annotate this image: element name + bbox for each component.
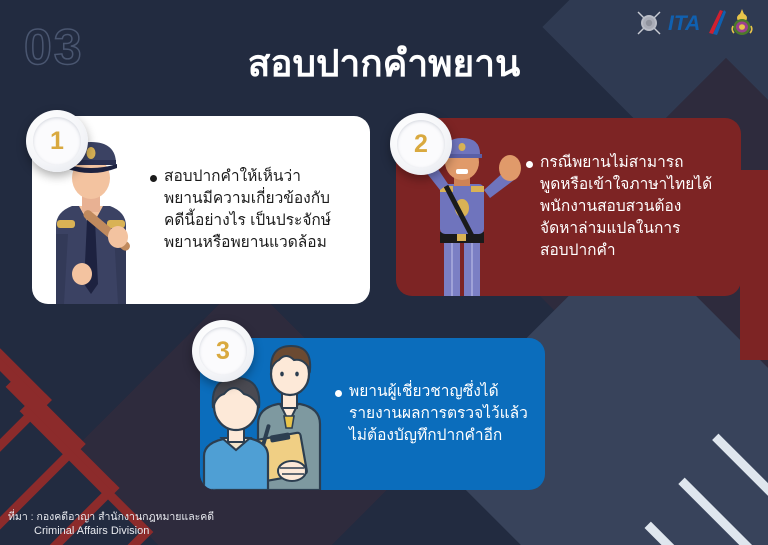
footer-source-english: Criminal Affairs Division <box>8 524 214 539</box>
card-1-number: 1 <box>50 129 64 154</box>
bullet-icon <box>150 175 157 182</box>
government-seal-icon <box>634 8 664 43</box>
card-2-text-block: กรณีพยานไม่สามารถ พูดหรือเข้าใจภาษาไทยได… <box>526 152 741 262</box>
svg-text:ITA: ITA <box>668 12 700 35</box>
footer-source-thai: ที่มา : กองคดีอาญา สำนักงานกฎหมายและคดี <box>8 510 214 524</box>
page-title: สอบปากคำพยาน <box>0 34 768 93</box>
bullet-icon <box>526 161 533 168</box>
card-1-body: สอบปากคำให้เห็นว่า พยานมีความเกี่ยวข้องก… <box>164 166 331 254</box>
thai-royal-emblem-icon <box>730 8 754 43</box>
card-1-text-block: สอบปากคำให้เห็นว่า พยานมีความเกี่ยวข้องก… <box>150 166 370 254</box>
footer-source: ที่มา : กองคดีอาญา สำนักงานกฎหมายและคดี … <box>8 510 214 539</box>
logo-cluster: ITA ITA <box>634 8 754 42</box>
card-2-number: 2 <box>414 132 428 157</box>
card-2-number-badge: 2 <box>390 113 452 175</box>
bullet-icon <box>335 390 342 397</box>
red-accent-strip <box>740 170 768 360</box>
card-3-number: 3 <box>216 339 230 364</box>
card-3-body: พยานผู้เชี่ยวชาญซึ่งได้ รายงานผลการตรวจไ… <box>349 381 528 447</box>
slide-root: 03 สอบปากคำพยาน ITA ITA <box>0 0 768 545</box>
card-2-body: กรณีพยานไม่สามารถ พูดหรือเข้าใจภาษาไทยได… <box>540 152 712 262</box>
card-3-number-badge: 3 <box>192 320 254 382</box>
card-3-text-block: พยานผู้เชี่ยวชาญซึ่งได้ รายงานผลการตรวจไ… <box>335 381 545 447</box>
card-1-number-badge: 1 <box>26 110 88 172</box>
ita-logo: ITA ITA <box>668 8 726 43</box>
